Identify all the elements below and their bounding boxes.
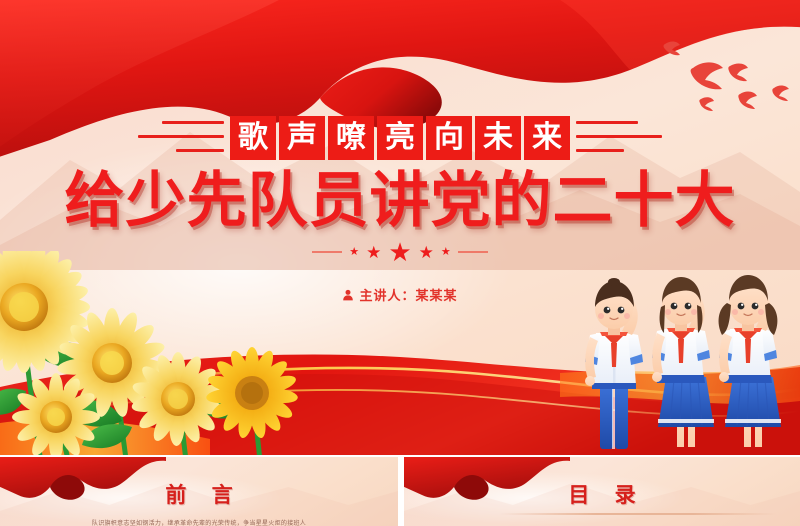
- slide-thumbnail-strip: 前 言 队识旗帜意志坚如钢活力，继承革命先辈的光荣传统，争当星星火炬的接班人: [0, 457, 800, 526]
- star-icon-1: ★: [349, 247, 359, 258]
- page-title: 给少先队员讲党的二十大: [0, 170, 800, 233]
- star-icon-2: ★: [366, 244, 381, 261]
- star-divider: ★ ★ ★ ★ ★: [0, 239, 800, 265]
- subtitle-char-5: 向: [426, 116, 472, 160]
- subtitle-char-6: 未: [475, 116, 521, 160]
- subtitle-badges: 歌 声 嘹 亮 向 未 来: [230, 116, 570, 160]
- presentation-preview: 歌 声 嘹 亮 向 未 来 给少先队员讲党的二十大 ★ ★ ★ ★: [0, 0, 800, 526]
- thumbnail-label-contents: 目 录: [404, 479, 800, 509]
- red-silk-wave: [0, 327, 800, 455]
- subtitle-char-4: 亮: [377, 116, 423, 160]
- thumbnail-slide-contents[interactable]: 目 录: [404, 457, 800, 526]
- star-divider-line-right: [458, 251, 488, 253]
- thumbnail-label-preface: 前 言: [0, 479, 398, 509]
- decorative-lines-left: [138, 117, 224, 159]
- title-block: 歌 声 嘹 亮 向 未 来 给少先队员讲党的二十大 ★ ★ ★ ★: [0, 112, 800, 306]
- subtitle-char-7: 来: [524, 116, 570, 160]
- star-icon-4: ★: [419, 244, 434, 261]
- thumbnail-body-text-preface: 队识旗帜意志坚如钢活力，继承革命先辈的光荣传统，争当星星火炬的接班人: [0, 518, 398, 526]
- thumbnail-slide-preface[interactable]: 前 言 队识旗帜意志坚如钢活力，继承革命先辈的光荣传统，争当星星火炬的接班人: [0, 457, 399, 526]
- star-icon-3: ★: [388, 239, 411, 265]
- hero-slide[interactable]: 歌 声 嘹 亮 向 未 来 给少先队员讲党的二十大 ★ ★ ★ ★: [0, 0, 800, 455]
- star-divider-line-left: [312, 251, 342, 253]
- decorative-lines-right: [576, 117, 662, 159]
- flying-birds-icon: [647, 28, 792, 123]
- person-icon: [342, 289, 354, 301]
- speaker-label: 主讲人：某某某: [359, 285, 457, 304]
- subtitle-char-2: 声: [279, 116, 325, 160]
- thumbnail-underline: [499, 513, 776, 515]
- subtitle-char-3: 嘹: [328, 116, 374, 160]
- subtitle-char-1: 歌: [230, 116, 276, 160]
- speaker-line: 主讲人：某某某: [342, 285, 457, 304]
- subtitle-row: 歌 声 嘹 亮 向 未 来: [0, 112, 800, 164]
- star-icon-5: ★: [441, 247, 451, 258]
